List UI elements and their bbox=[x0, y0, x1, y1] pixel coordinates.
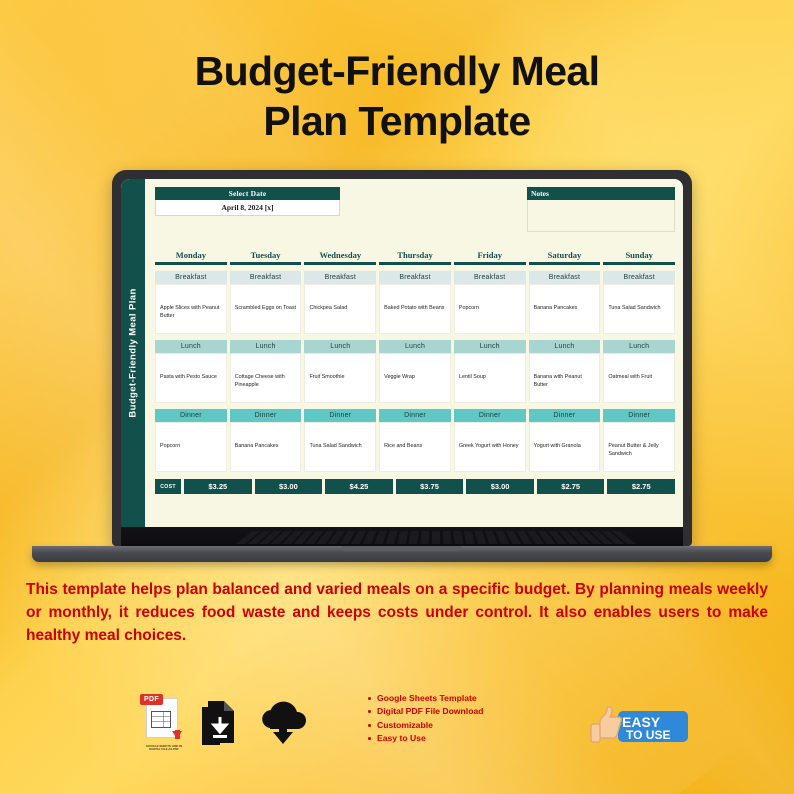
lunch-cell-monday[interactable]: Pasta with Pesto Sauce bbox=[155, 353, 227, 403]
spreadsheet-body: Select Date April 8, 2024 [x] Notes Mond… bbox=[145, 179, 683, 527]
spreadsheet-sidebar: Budget-Friendly Meal Plan bbox=[121, 179, 145, 527]
dinner-cell-friday[interactable]: Greek Yogurt with Honey bbox=[454, 422, 526, 472]
lunch-label: Lunch bbox=[304, 340, 376, 353]
lunch-label: Lunch bbox=[603, 340, 675, 353]
breakfast-label-row: Breakfast Breakfast Breakfast Breakfast … bbox=[155, 271, 675, 284]
spreadsheet-topbar: Select Date April 8, 2024 [x] Notes bbox=[155, 187, 675, 232]
lunch-label: Lunch bbox=[379, 340, 451, 353]
breakfast-cell-monday[interactable]: Apple Slices with Peanut Butter bbox=[155, 284, 227, 334]
lunch-label-row: Lunch Lunch Lunch Lunch Lunch Lunch Lunc… bbox=[155, 340, 675, 353]
breakfast-label: Breakfast bbox=[379, 271, 451, 284]
breakfast-label: Breakfast bbox=[603, 271, 675, 284]
notes-label: Notes bbox=[527, 187, 675, 200]
laptop-keyboard-area bbox=[121, 527, 683, 546]
cost-cell-monday[interactable]: $3.25 bbox=[184, 479, 252, 494]
select-date-field[interactable]: Select Date April 8, 2024 [x] bbox=[155, 187, 340, 216]
lunch-cell-tuesday[interactable]: Cottage Cheese with Pineapple bbox=[230, 353, 302, 403]
laptop-screen-bezel: Budget-Friendly Meal Plan Select Date Ap… bbox=[121, 179, 683, 546]
dinner-cell-wednesday[interactable]: Tuna Salad Sandwich bbox=[304, 422, 376, 472]
feature-item: Digital PDF File Download bbox=[368, 705, 483, 718]
lunch-cell-thursday[interactable]: Veggie Wrap bbox=[379, 353, 451, 403]
spreadsheet-grid-icon bbox=[151, 711, 171, 728]
day-header-tuesday: Tuesday bbox=[230, 250, 302, 265]
feature-item: Customizable bbox=[368, 719, 483, 732]
dinner-label-row: Dinner Dinner Dinner Dinner Dinner Dinne… bbox=[155, 409, 675, 422]
select-date-label: Select Date bbox=[155, 187, 340, 200]
day-header-thursday: Thursday bbox=[379, 250, 451, 265]
pdf-icon-caption: GOOGLE SHEETS LINK IN DIGITAL FILE AS PD… bbox=[140, 745, 188, 752]
lunch-cell-saturday[interactable]: Banana with Peanut Butter bbox=[529, 353, 601, 403]
pdf-badge-label: PDF bbox=[140, 694, 163, 705]
dinner-label: Dinner bbox=[304, 409, 376, 422]
dinner-cell-monday[interactable]: Popcorn bbox=[155, 422, 227, 472]
breakfast-label: Breakfast bbox=[529, 271, 601, 284]
thumbs-up-icon bbox=[591, 707, 621, 742]
laptop-screen: Budget-Friendly Meal Plan Select Date Ap… bbox=[121, 179, 683, 527]
laptop-lid: Budget-Friendly Meal Plan Select Date Ap… bbox=[112, 170, 692, 546]
notes-input[interactable] bbox=[527, 200, 675, 232]
dinner-cell-saturday[interactable]: Yogurt with Granola bbox=[529, 422, 601, 472]
breakfast-cell-saturday[interactable]: Banana Pancakes bbox=[529, 284, 601, 334]
lunch-cell-wednesday[interactable]: Fruit Smoothie bbox=[304, 353, 376, 403]
lunch-label: Lunch bbox=[230, 340, 302, 353]
cost-cell-wednesday[interactable]: $4.25 bbox=[325, 479, 393, 494]
breakfast-label: Breakfast bbox=[454, 271, 526, 284]
dinner-label: Dinner bbox=[603, 409, 675, 422]
dinner-label: Dinner bbox=[454, 409, 526, 422]
cost-cell-sunday[interactable]: $2.75 bbox=[607, 479, 675, 494]
download-arrow-icon bbox=[172, 731, 182, 739]
day-header-monday: Monday bbox=[155, 250, 227, 265]
breakfast-label: Breakfast bbox=[155, 271, 227, 284]
notes-panel[interactable]: Notes bbox=[527, 187, 675, 232]
dinner-label: Dinner bbox=[379, 409, 451, 422]
breakfast-section: Breakfast Breakfast Breakfast Breakfast … bbox=[155, 271, 675, 334]
cost-cell-tuesday[interactable]: $3.00 bbox=[255, 479, 323, 494]
lunch-cell-friday[interactable]: Lentil Soup bbox=[454, 353, 526, 403]
day-header-row: Monday Tuesday Wednesday Thursday Friday… bbox=[155, 250, 675, 265]
page-title: Budget-Friendly Meal Plan Template bbox=[0, 46, 794, 146]
feature-list: Google Sheets Template Digital PDF File … bbox=[368, 692, 483, 745]
breakfast-value-row: Apple Slices with Peanut Butter Scramble… bbox=[155, 284, 675, 334]
lunch-cell-sunday[interactable]: Oatmeal with Fruit bbox=[603, 353, 675, 403]
dinner-label: Dinner bbox=[529, 409, 601, 422]
keyboard-keys bbox=[236, 531, 636, 544]
lunch-section: Lunch Lunch Lunch Lunch Lunch Lunch Lunc… bbox=[155, 340, 675, 403]
file-download-icon bbox=[200, 699, 240, 745]
etsy-listing-image: Budget-Friendly Meal Plan Template Budge… bbox=[0, 0, 794, 794]
day-header-sunday: Sunday bbox=[603, 250, 675, 265]
select-date-value[interactable]: April 8, 2024 [x] bbox=[155, 200, 340, 216]
meal-plan-spreadsheet: Budget-Friendly Meal Plan Select Date Ap… bbox=[121, 179, 683, 527]
breakfast-cell-thursday[interactable]: Baked Potato with Beans bbox=[379, 284, 451, 334]
day-header-wednesday: Wednesday bbox=[304, 250, 376, 265]
breakfast-label: Breakfast bbox=[230, 271, 302, 284]
lunch-value-row: Pasta with Pesto Sauce Cottage Cheese wi… bbox=[155, 353, 675, 403]
svg-text:TO USE: TO USE bbox=[626, 728, 670, 742]
breakfast-cell-friday[interactable]: Popcorn bbox=[454, 284, 526, 334]
dinner-cell-tuesday[interactable]: Banana Pancakes bbox=[230, 422, 302, 472]
dinner-label: Dinner bbox=[155, 409, 227, 422]
day-header-saturday: Saturday bbox=[529, 250, 601, 265]
lunch-label: Lunch bbox=[454, 340, 526, 353]
lunch-label: Lunch bbox=[155, 340, 227, 353]
lunch-label: Lunch bbox=[529, 340, 601, 353]
dinner-cell-thursday[interactable]: Rice and Beans bbox=[379, 422, 451, 472]
breakfast-cell-tuesday[interactable]: Scrambled Eggs on Toast bbox=[230, 284, 302, 334]
description-text: This template helps plan balanced and va… bbox=[26, 578, 768, 647]
cost-cell-friday[interactable]: $3.00 bbox=[466, 479, 534, 494]
feature-item: Easy to Use bbox=[368, 732, 483, 745]
laptop-base bbox=[32, 546, 772, 562]
dinner-value-row: Popcorn Banana Pancakes Tuna Salad Sandw… bbox=[155, 422, 675, 472]
dinner-section: Dinner Dinner Dinner Dinner Dinner Dinne… bbox=[155, 409, 675, 472]
breakfast-label: Breakfast bbox=[304, 271, 376, 284]
dinner-label: Dinner bbox=[230, 409, 302, 422]
feature-item: Google Sheets Template bbox=[368, 692, 483, 705]
title-line-1: Budget-Friendly Meal bbox=[0, 46, 794, 96]
cost-row: COST $3.25 $3.00 $4.25 $3.75 $3.00 $2.75… bbox=[155, 479, 675, 494]
easy-to-use-badge: EASY TO USE bbox=[588, 702, 690, 748]
format-icons-group: PDF GOOGLE SHEETS LINK IN DIGITAL FILE A… bbox=[140, 694, 310, 750]
dinner-cell-sunday[interactable]: Peanut Butter & Jelly Sandwich bbox=[603, 422, 675, 472]
title-line-2: Plan Template bbox=[0, 96, 794, 146]
breakfast-cell-sunday[interactable]: Tuna Salad Sandwich bbox=[603, 284, 675, 334]
cloud-download-icon bbox=[256, 698, 310, 746]
breakfast-cell-wednesday[interactable]: Chickpea Salad bbox=[304, 284, 376, 334]
cost-cell-thursday[interactable]: $3.75 bbox=[396, 479, 464, 494]
day-header-friday: Friday bbox=[454, 250, 526, 265]
laptop-mockup: Budget-Friendly Meal Plan Select Date Ap… bbox=[112, 170, 692, 562]
cost-cell-saturday[interactable]: $2.75 bbox=[537, 479, 605, 494]
pdf-google-sheets-icon: PDF GOOGLE SHEETS LINK IN DIGITAL FILE A… bbox=[140, 694, 184, 750]
sidebar-title: Budget-Friendly Meal Plan bbox=[128, 288, 139, 417]
cost-label: COST bbox=[155, 479, 181, 494]
